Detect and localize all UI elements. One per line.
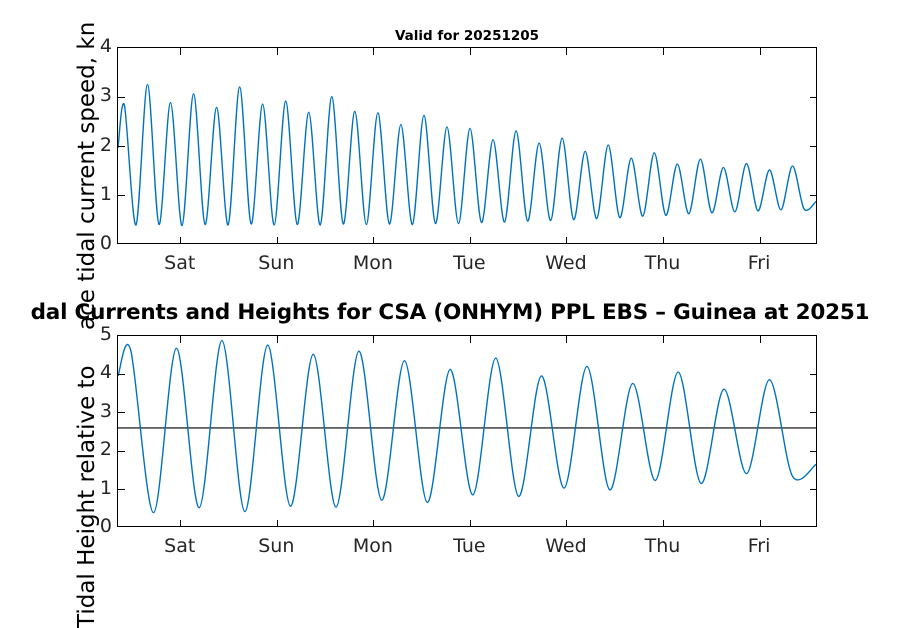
x-tickmark [470,48,471,55]
y-tickmark [118,195,125,196]
x-tick-label: Mon [328,537,418,556]
heights-x-tick-labels: SatSunMonTueWedThuFri [0,537,900,561]
x-tickmark [566,520,567,527]
data-series-line-0 [118,85,816,226]
x-tickmark [760,48,761,55]
x-tick-label: Mon [328,254,418,273]
x-tick-label: Fri [714,537,804,556]
x-tick-label: Sun [231,537,321,556]
y-tickmark [810,451,817,452]
heights-plot-inner [118,336,816,526]
y-tickmark [118,97,125,98]
x-tickmark [470,336,471,343]
x-tick-label: Wed [521,254,611,273]
x-tick-label: Tue [424,254,514,273]
currents-plot-inner [118,48,816,243]
x-tickmark [277,520,278,527]
x-tickmark [180,336,181,343]
y-tickmark [810,374,817,375]
x-tickmark [373,237,374,244]
x-tickmark [663,48,664,55]
x-tickmark [277,237,278,244]
x-tick-label: Tue [424,537,514,556]
y-tickmark [118,451,125,452]
y-tickmark [118,374,125,375]
y-tickmark [810,489,817,490]
x-tick-label: Thu [618,254,708,273]
x-tickmark [566,48,567,55]
x-tickmark [663,520,664,527]
x-tick-label: Sat [135,254,225,273]
figure-title: dal Currents and Heights for CSA (ONHYM)… [0,300,900,326]
currents-x-tick-labels: SatSunMonTueWedThuFri [0,254,900,278]
x-tick-label: Sun [231,254,321,273]
x-tickmark [180,48,181,55]
data-series-line-0 [118,341,816,513]
x-tick-label: Fri [714,254,804,273]
x-tickmark [373,520,374,527]
x-tickmark [760,336,761,343]
currents-plot-area [117,47,817,244]
y-tickmark [118,489,125,490]
x-tickmark [760,520,761,527]
x-tick-label: Sat [135,537,225,556]
heights-curve-svg [118,336,816,526]
x-tickmark [277,336,278,343]
heights-y-axis-label: Tidal Height relative to [76,365,99,628]
x-tickmark [663,336,664,343]
y-tickmark [810,412,817,413]
x-tickmark [470,520,471,527]
x-tickmark [566,336,567,343]
y-tickmark [118,412,125,413]
x-tickmark [180,520,181,527]
tidal-figure: Valid for 20251205 01234 SatSunMonTueWed… [0,0,900,600]
currents-chart-title: Valid for 20251205 [117,28,817,44]
x-tickmark [760,237,761,244]
y-tickmark [810,146,817,147]
x-tickmark [663,237,664,244]
y-tickmark [810,195,817,196]
x-tick-label: Wed [521,537,611,556]
x-tickmark [566,237,567,244]
x-tickmark [373,336,374,343]
x-tickmark [180,237,181,244]
currents-curve-svg [118,48,816,243]
x-tickmark [470,237,471,244]
x-tickmark [373,48,374,55]
y-tickmark [810,97,817,98]
y-tickmark [118,146,125,147]
x-tickmark [277,48,278,55]
y-tick-label: 5 [88,325,112,344]
x-tick-label: Thu [618,537,708,556]
heights-plot-area [117,335,817,527]
